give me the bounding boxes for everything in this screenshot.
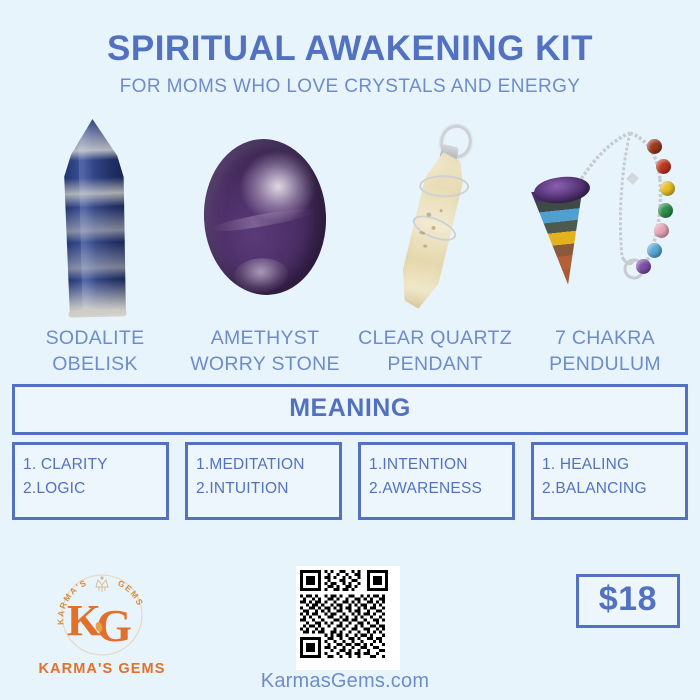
- header: SPIRITUAL AWAKENING KIT FOR MOMS WHO LOV…: [0, 0, 700, 98]
- meaning-box-amethyst: 1.MEDITATION 2.INTUITION: [185, 442, 342, 520]
- qr-code-svg: [300, 570, 388, 658]
- meaning-title: MEANING: [289, 394, 411, 422]
- pendulum-shape: [530, 117, 680, 317]
- crown-icon: [96, 577, 108, 592]
- meaning-line: 2.BALANCING: [542, 477, 679, 501]
- meaning-box-row: 1. CLARITY 2.LOGIC 1.MEDITATION 2.INTUIT…: [12, 442, 688, 520]
- meaning-box-sodalite: 1. CLARITY 2.LOGIC: [12, 442, 169, 520]
- product-amethyst-worry-stone: AMETHYST WORRY STONE: [180, 115, 350, 378]
- page-title: SPIRITUAL AWAKENING KIT: [0, 31, 700, 68]
- website-url[interactable]: KarmasGems.com: [230, 670, 460, 693]
- product-label: SODALITE OBELISK: [46, 326, 145, 378]
- product-chakra-pendulum: 7 CHAKRA PENDULUM: [520, 115, 690, 378]
- meaning-box-quartz: 1.INTENTION 2.AWARENESS: [358, 442, 515, 520]
- chakra-pendulum-image: [520, 115, 690, 320]
- product-label-line2: PENDANT: [358, 352, 512, 378]
- product-label: 7 CHAKRA PENDULUM: [549, 326, 661, 378]
- logo-mark-icon: KARMA'S GEMS K G: [52, 565, 152, 665]
- product-label: AMETHYST WORRY STONE: [190, 326, 340, 378]
- product-label-line1: 7 CHAKRA: [549, 326, 661, 352]
- meaning-line: 2.AWARENESS: [369, 477, 506, 501]
- obelisk-base: [68, 308, 126, 318]
- page-subtitle: FOR MOMS WHO LOVE CRYSTALS AND ENERGY: [0, 77, 700, 98]
- product-label-line2: WORRY STONE: [190, 352, 340, 378]
- meaning-header: MEANING: [12, 384, 688, 435]
- footer: KARMA'S GEMS K G KARMA'S GEMS: [0, 560, 700, 700]
- meaning-line: 2.LOGIC: [23, 477, 160, 501]
- meaning-line: 1.INTENTION: [369, 453, 506, 477]
- obelisk-shape: [59, 118, 130, 316]
- product-label-line1: CLEAR QUARTZ: [358, 326, 512, 352]
- meaning-line: 1. HEALING: [542, 453, 679, 477]
- product-sodalite-obelisk: SODALITE OBELISK: [10, 115, 180, 378]
- product-clear-quartz-pendant: CLEAR QUARTZ PENDANT: [350, 115, 520, 378]
- meaning-line: 1. CLARITY: [23, 453, 160, 477]
- meaning-line: 2.INTUITION: [196, 477, 333, 501]
- product-label-line1: SODALITE: [46, 326, 145, 352]
- product-label-line1: AMETHYST: [190, 326, 340, 352]
- product-label-line2: OBELISK: [46, 352, 145, 378]
- product-label-line2: PENDULUM: [549, 352, 661, 378]
- qr-code[interactable]: [296, 566, 400, 670]
- amethyst-shape: [200, 136, 330, 298]
- clear-quartz-pendant-image: [350, 115, 520, 320]
- logo-circle: KARMA'S GEMS K G: [52, 565, 152, 665]
- sodalite-obelisk-image: [10, 115, 180, 320]
- product-row: SODALITE OBELISK AMETHYST WORRY STONE: [0, 115, 700, 378]
- quartz-shape: [383, 118, 486, 317]
- amethyst-worry-stone-image: [180, 115, 350, 320]
- brand-logo: KARMA'S GEMS K G KARMA'S GEMS: [27, 565, 177, 677]
- amethyst-band: [211, 205, 316, 235]
- meaning-line: 1.MEDITATION: [196, 453, 333, 477]
- product-label: CLEAR QUARTZ PENDANT: [358, 326, 512, 378]
- meaning-section: MEANING 1. CLARITY 2.LOGIC 1.MEDITATION …: [12, 384, 688, 520]
- meaning-box-pendulum: 1. HEALING 2.BALANCING: [531, 442, 688, 520]
- price-badge: $18: [576, 574, 680, 628]
